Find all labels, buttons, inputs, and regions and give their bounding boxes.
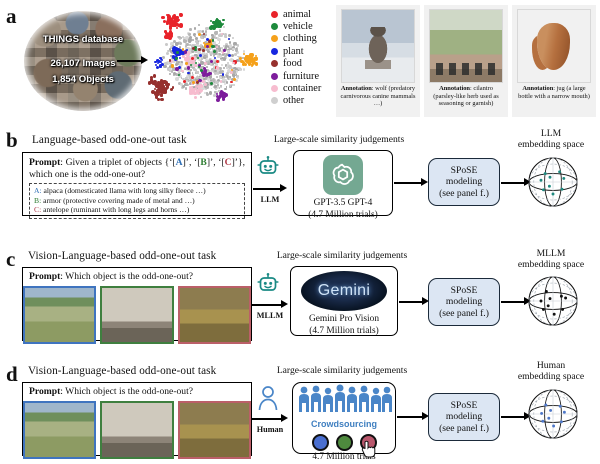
human-icon	[257, 385, 279, 416]
arrow-crowd-to-spose-d	[397, 412, 429, 421]
panel-c-spose-line3: (see panel f.)	[439, 308, 489, 319]
legend-label-animal: animal	[283, 9, 311, 20]
panel-c-model-box: Gemini Gemini Pro Vision (4.7 Million tr…	[290, 266, 398, 336]
legend-dot-other	[271, 97, 278, 104]
legend-label-plant: plant	[283, 46, 304, 57]
legend-item-furniture: furniture	[271, 70, 321, 82]
panel-c-agent-label: MLLM	[250, 311, 290, 320]
option-b-key: B:	[34, 196, 41, 205]
gemini-logo-icon: Gemini	[301, 271, 387, 311]
panel-d-spose-line1: SPoSE	[439, 400, 489, 411]
armor-image-d[interactable]	[100, 401, 173, 459]
panel-b-embedding-title-1: LLM	[505, 128, 597, 139]
triplet-choice-buttons	[293, 434, 395, 451]
panel-d-prompt-label: Prompt	[29, 386, 60, 397]
panel-c-model-trials: (4.7 Million trials)	[291, 326, 397, 338]
panel-b-prompt-seg3: ]’, ‘[	[207, 157, 225, 168]
panel-d-embedding-title-2: embedding space	[505, 371, 597, 382]
panel-d-judgements-title: Large-scale similarity judgements	[262, 365, 422, 376]
panel-b-spose-line2: modeling	[439, 176, 489, 187]
panel-b-embedding-sphere	[523, 152, 583, 217]
panel-d-triplet-images	[23, 401, 251, 459]
things-objects-count: 1,854 Objects	[24, 74, 142, 85]
panel-c-spose-line2: modeling	[439, 296, 489, 307]
legend-item-clothing: clothing	[271, 33, 321, 45]
panel-a-letter: a	[6, 6, 17, 27]
openai-logo-icon	[323, 155, 363, 195]
panel-c-spose-box: SPoSE modeling (see panel f.)	[428, 278, 500, 326]
legend-dot-vehicle	[271, 23, 278, 30]
prompt-token-c: C	[225, 157, 232, 168]
panel-c-prompt-box: Prompt: Which object is the odd-one-out?	[22, 267, 252, 341]
panel-b-task-title: Language-based odd-one-out task	[32, 134, 187, 146]
option-b-text: armor (protective covering made of metal…	[43, 196, 195, 205]
wolf-photo	[341, 9, 415, 83]
panel-b-letter: b	[6, 130, 18, 151]
option-a-text: alpaca (domesticated llama with long sil…	[44, 186, 206, 195]
panel-b-model-trials: (4.7 Million trials)	[294, 210, 392, 222]
category-legend: animal vehicle clothing plant food furni…	[271, 8, 321, 107]
robot-icon-llm	[256, 155, 280, 184]
panel-c-judgements-title: Large-scale similarity judgements	[262, 250, 422, 261]
arrow-model-to-spose-c	[399, 297, 429, 306]
antelope-image-c[interactable]	[178, 286, 251, 344]
example-card-jug: Annotation: jug (a large bottle with a n…	[512, 5, 596, 117]
things-database-title: THINGS database	[24, 34, 142, 45]
panel-b-spose-line1: SPoSE	[439, 165, 489, 176]
legend-dot-animal	[271, 11, 278, 18]
option-c-text: antelope (ruminant with long legs and ho…	[43, 205, 189, 214]
panel-d-embedding-sphere	[523, 384, 583, 449]
panel-d-spose-line2: modeling	[439, 411, 489, 422]
prompt-token-a: A	[176, 157, 183, 168]
jug-annotation: Annotation: jug (a large bottle with a n…	[512, 83, 596, 100]
panel-b-prompt-label: Prompt	[29, 157, 60, 168]
panel-b-agent-label: LLM	[253, 195, 287, 204]
legend-dot-plant	[271, 48, 278, 55]
choice-button-green[interactable]	[336, 434, 353, 451]
panel-d-embedding-title-1: Human	[505, 360, 597, 371]
panel-c-task-title: Vision-Language-based odd-one-out task	[28, 250, 216, 262]
panel-c-embedding-sphere	[523, 271, 583, 336]
panel-c-embedding-title-2: embedding space	[505, 259, 597, 270]
legend-dot-clothing	[271, 35, 278, 42]
choice-button-blue[interactable]	[312, 434, 329, 451]
alpacas-image-d[interactable]	[23, 401, 96, 459]
cilantro-annotation: Annotation: cilantro (parsley-like herb …	[424, 83, 508, 108]
legend-item-food: food	[271, 58, 321, 70]
jug-photo	[517, 9, 591, 83]
alpacas-image-c[interactable]	[23, 286, 96, 344]
legend-item-other: other	[271, 95, 321, 107]
legend-item-vehicle: vehicle	[271, 20, 321, 32]
crowdsourcing-graphic	[293, 383, 395, 417]
panel-d-spose-text: SPoSE modeling (see panel f.)	[439, 400, 489, 434]
panel-d-spose-box: SPoSE modeling (see panel f.)	[428, 393, 500, 441]
panel-b-spose-line3: (see panel f.)	[439, 188, 489, 199]
panel-b-judgements-title: Large-scale similarity judgements	[262, 134, 416, 145]
option-a: A: alpaca (domesticated llama with long …	[34, 186, 240, 196]
sphere-b-svg	[523, 152, 583, 212]
legend-item-container: container	[271, 82, 321, 94]
option-c-key: C:	[34, 205, 41, 214]
cilantro-annotation-label: Annotation	[439, 85, 470, 92]
legend-dot-food	[271, 60, 278, 67]
panel-d-prompt-box: Prompt: Which object is the odd-one-out?	[22, 382, 252, 456]
legend-label-container: container	[283, 83, 321, 94]
legend-label-food: food	[283, 58, 302, 69]
legend-dot-furniture	[271, 73, 278, 80]
arrow-model-to-spose-b	[394, 178, 428, 187]
panel-b-spose-box: SPoSE modeling (see panel f.)	[428, 158, 500, 206]
panel-b-spose-text: SPoSE modeling (see panel f.)	[439, 165, 489, 199]
panel-b-options-box: A: alpaca (domesticated llama with long …	[29, 183, 245, 219]
panel-d-prompt-body: : Which object is the odd-one-out?	[60, 386, 193, 397]
panel-c-spose-line1: SPoSE	[439, 285, 489, 296]
option-c: C: antelope (ruminant with long legs and…	[34, 205, 240, 215]
panel-c-embedding-title-1: MLLM	[505, 248, 597, 259]
gemini-logo-text: Gemini	[318, 282, 370, 300]
panel-c-prompt-text: Prompt: Which object is the odd-one-out?	[23, 268, 251, 283]
panel-b-model-names: GPT-3.5 GPT-4	[294, 198, 392, 210]
legend-dot-container	[271, 85, 278, 92]
legend-label-furniture: furniture	[283, 71, 319, 82]
panel-d-task-title: Vision-Language-based odd-one-out task	[28, 365, 216, 377]
robot-icon-mllm	[256, 272, 280, 301]
panel-b-prompt-seg1: : Given a triplet of objects {‘[	[60, 157, 175, 168]
arrow-prompt-to-model-c	[251, 300, 289, 309]
example-card-cilantro: Annotation: cilantro (parsley-like herb …	[424, 5, 508, 117]
panel-c-prompt-body: : Which object is the odd-one-out?	[60, 271, 193, 282]
legend-label-other: other	[283, 95, 304, 106]
panel-b-prompt-text: Prompt: Given a triplet of objects {‘[A]…	[23, 153, 251, 180]
legend-item-animal: animal	[271, 8, 321, 20]
tsne-scatter-plot	[132, 6, 260, 114]
crowdsourcing-label: Crowdsourcing	[311, 419, 377, 429]
antelope-image-d[interactable]	[178, 401, 251, 459]
arrow-prompt-to-model-b	[253, 184, 287, 193]
panel-c-triplet-images	[23, 286, 251, 344]
legend-item-plant: plant	[271, 45, 321, 57]
crowd-people-icon	[293, 383, 397, 417]
option-a-key: A:	[34, 186, 42, 195]
armor-image-c[interactable]	[100, 286, 173, 344]
jug-annotation-label: Annotation	[522, 85, 553, 92]
option-b: B: armor (protective covering made of me…	[34, 196, 240, 206]
sphere-d-svg	[523, 384, 583, 444]
panel-b-embedding-title-2: embedding space	[505, 139, 597, 150]
legend-label-vehicle: vehicle	[283, 21, 313, 32]
wolf-annotation-label: Annotation	[341, 85, 372, 92]
panel-c-letter: c	[6, 249, 15, 270]
panel-b-model-box: GPT-3.5 GPT-4 (4.7 Million trials)	[293, 150, 393, 216]
panel-d-spose-line3: (see panel f.)	[439, 423, 489, 434]
cursor-hand-icon	[359, 439, 379, 459]
panel-d-agent-label: Human	[250, 425, 290, 434]
legend-label-clothing: clothing	[283, 33, 317, 44]
plants-photo	[429, 9, 503, 83]
arrow-prompt-to-crowd-d	[251, 414, 289, 423]
panel-c-model-names: Gemini Pro Vision	[291, 314, 397, 326]
wolf-annotation: Annotation: wolf (predatory carnivorous …	[336, 83, 420, 108]
panel-b-prompt-seg2: ]’, ‘[	[183, 157, 201, 168]
sphere-c-svg	[523, 271, 583, 331]
panel-d-trials: 4.7 Million trials	[293, 452, 395, 464]
panel-c-spose-text: SPoSE modeling (see panel f.)	[439, 285, 489, 319]
panel-d-letter: d	[6, 364, 18, 385]
panel-c-prompt-label: Prompt	[29, 271, 60, 282]
panel-d-prompt-text: Prompt: Which object is the odd-one-out?	[23, 383, 251, 398]
panel-b-prompt-box: Prompt: Given a triplet of objects {‘[A]…	[22, 152, 252, 216]
panel-d-crowd-box: Crowdsourcing 4.7 Million trials	[292, 382, 396, 454]
example-card-wolf: Annotation: wolf (predatory carnivorous …	[336, 5, 420, 117]
